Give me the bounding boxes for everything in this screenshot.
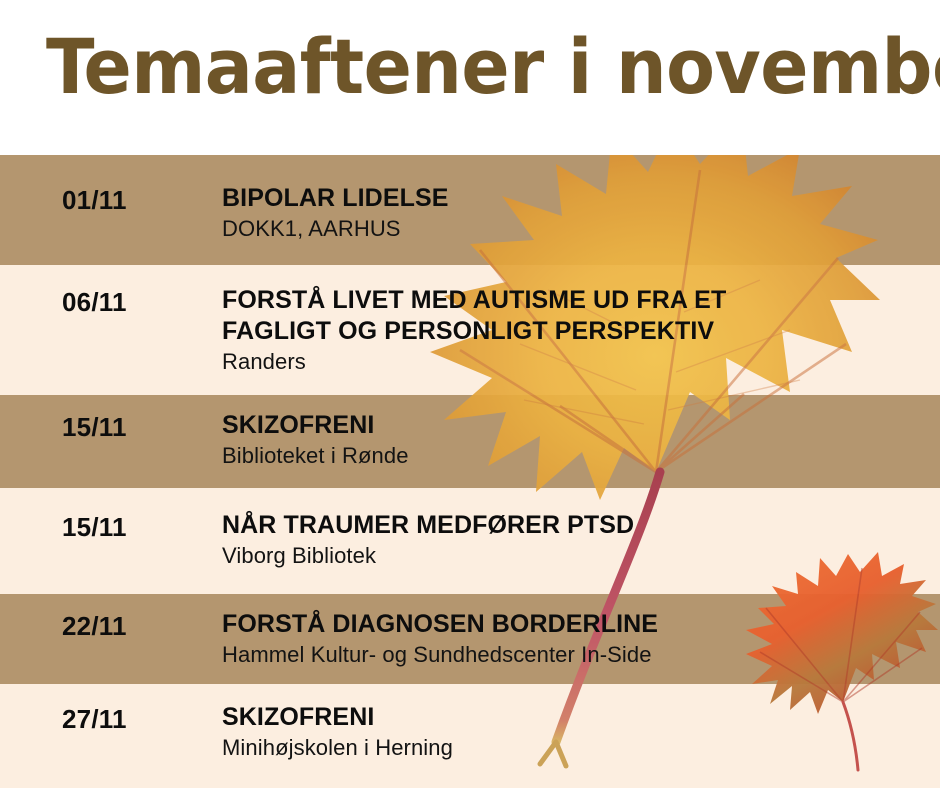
event-date: 15/11 — [62, 412, 212, 443]
event-date: 01/11 — [62, 185, 212, 216]
table-row: 06/11 FORSTÅ LIVET MED AUTISME UD FRA ET… — [0, 265, 940, 395]
table-row: 01/11 BIPOLAR LIDELSE DOKK1, AARHUS — [0, 155, 940, 265]
event-venue: Viborg Bibliotek — [222, 542, 922, 570]
event-details: FORSTÅ LIVET MED AUTISME UD FRA ET FAGLI… — [222, 285, 922, 376]
event-title: BIPOLAR LIDELSE — [222, 183, 922, 214]
poster-canvas: Temaaftener i november 01/11 BIPOLAR LID… — [0, 0, 940, 788]
event-title: FORSTÅ LIVET MED AUTISME UD FRA ET FAGLI… — [222, 285, 922, 347]
event-details: FORSTÅ DIAGNOSEN BORDERLINE Hammel Kultu… — [222, 609, 922, 669]
event-title: FORSTÅ DIAGNOSEN BORDERLINE — [222, 609, 922, 640]
event-details: BIPOLAR LIDELSE DOKK1, AARHUS — [222, 183, 922, 243]
event-venue: Minihøjskolen i Herning — [222, 734, 922, 762]
event-date: 15/11 — [62, 512, 212, 543]
event-details: NÅR TRAUMER MEDFØRER PTSD Viborg Bibliot… — [222, 510, 922, 570]
page-title: Temaaftener i november — [46, 24, 940, 110]
event-title: SKIZOFRENI — [222, 410, 922, 441]
event-details: SKIZOFRENI Biblioteket i Rønde — [222, 410, 922, 470]
table-row: 15/11 NÅR TRAUMER MEDFØRER PTSD Viborg B… — [0, 488, 940, 594]
event-venue: Biblioteket i Rønde — [222, 442, 922, 470]
event-date: 27/11 — [62, 704, 212, 735]
event-title: SKIZOFRENI — [222, 702, 922, 733]
event-title: NÅR TRAUMER MEDFØRER PTSD — [222, 510, 922, 541]
table-row: 22/11 FORSTÅ DIAGNOSEN BORDERLINE Hammel… — [0, 594, 940, 684]
table-row: 15/11 SKIZOFRENI Biblioteket i Rønde — [0, 395, 940, 488]
poster-header: Temaaftener i november — [0, 0, 940, 155]
event-date: 22/11 — [62, 611, 212, 642]
event-venue: Randers — [222, 348, 922, 376]
event-details: SKIZOFRENI Minihøjskolen i Herning — [222, 702, 922, 762]
event-venue: Hammel Kultur- og Sundhedscenter In-Side — [222, 641, 922, 669]
event-date: 06/11 — [62, 287, 212, 318]
event-venue: DOKK1, AARHUS — [222, 215, 922, 243]
table-row: 27/11 SKIZOFRENI Minihøjskolen i Herning — [0, 684, 940, 788]
